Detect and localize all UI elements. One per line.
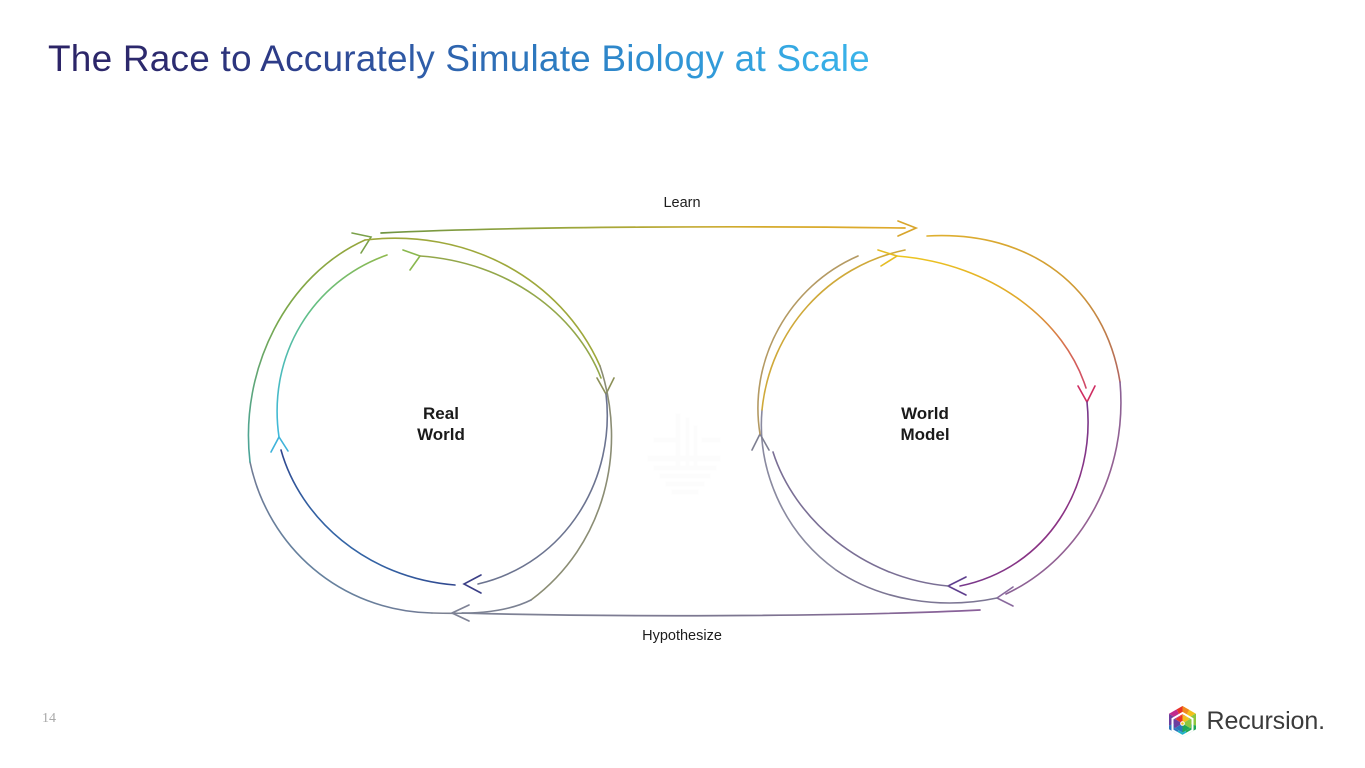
page-title: The Race to Accurately Simulate Biology … bbox=[48, 38, 870, 80]
slide-canvas: The Race to Accurately Simulate Biology … bbox=[0, 0, 1365, 768]
recursion-wordmark: Recursion. bbox=[1206, 709, 1325, 734]
recursion-hexagon-icon bbox=[1168, 705, 1197, 738]
cycle-diagram bbox=[0, 0, 1365, 768]
node-label-world-model: World Model bbox=[852, 403, 998, 446]
edge-label-hypothesize: Hypothesize bbox=[582, 628, 782, 644]
page-number: 14 bbox=[42, 711, 56, 727]
edge-label-learn: Learn bbox=[582, 195, 782, 211]
center-watermark bbox=[632, 408, 736, 508]
recursion-trademark-dot: . bbox=[1318, 707, 1325, 735]
recursion-logo: Recursion. bbox=[1168, 704, 1325, 738]
node-label-real-world: Real World bbox=[368, 403, 514, 446]
edge-learn bbox=[381, 221, 916, 236]
recursion-wordmark-text: Recursion bbox=[1206, 707, 1318, 735]
edge-hypothesize bbox=[452, 605, 980, 621]
